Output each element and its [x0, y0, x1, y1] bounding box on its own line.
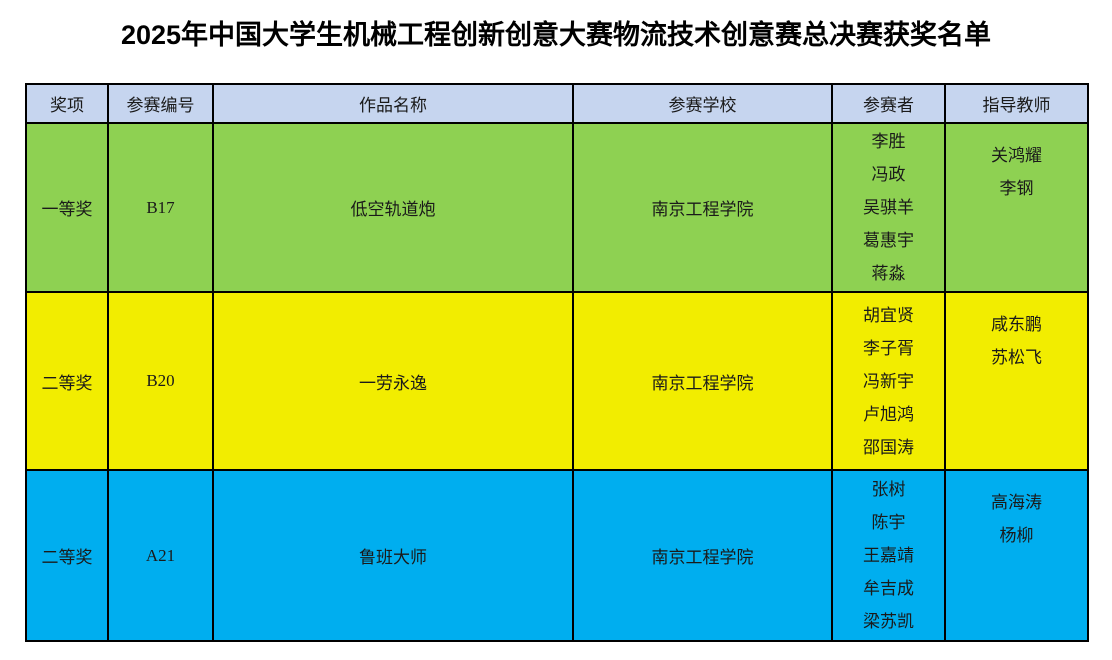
page-title: 2025年中国大学生机械工程创新创意大赛物流技术创意赛总决赛获奖名单	[0, 13, 1112, 52]
member-name: 李子胥	[863, 332, 914, 365]
cell-work: 一劳永逸	[213, 292, 573, 470]
member-list: 张树 陈宇 王嘉靖 牟吉成 梁苏凯	[833, 471, 944, 640]
column-header-teachers: 指导教师	[945, 84, 1088, 123]
table-row: 一等奖 B17 低空轨道炮 南京工程学院 李胜 冯政 吴骐羊 葛惠宇	[26, 123, 1088, 292]
cell-teachers: 高海涛 杨柳	[945, 470, 1088, 641]
table-body: 一等奖 B17 低空轨道炮 南京工程学院 李胜 冯政 吴骐羊 葛惠宇	[26, 123, 1088, 641]
cell-teachers: 咸东鹏 苏松飞	[945, 292, 1088, 470]
cell-code: B17	[108, 123, 213, 292]
member-name: 王嘉靖	[863, 539, 914, 572]
teacher-name: 高海涛	[991, 486, 1042, 519]
school-name: 南京工程学院	[574, 543, 831, 568]
column-header-work: 作品名称	[213, 84, 573, 123]
cell-members: 张树 陈宇 王嘉靖 牟吉成 梁苏凯	[832, 470, 945, 641]
cell-award: 一等奖	[26, 123, 108, 292]
cell-code: A21	[108, 470, 213, 641]
teacher-list: 高海涛 杨柳	[946, 471, 1087, 552]
member-name: 陈宇	[872, 506, 906, 539]
teacher-name: 咸东鹏	[991, 308, 1042, 341]
work-title: 一劳永逸	[214, 369, 572, 394]
member-name: 蒋淼	[872, 257, 906, 290]
member-name: 梁苏凯	[863, 605, 914, 638]
cell-work: 低空轨道炮	[213, 123, 573, 292]
member-name: 牟吉成	[863, 572, 914, 605]
member-name: 张树	[872, 473, 906, 506]
award-list-table: 奖项 参赛编号 作品名称 参赛学校 参赛者 指导教师 一等奖 B17 低空轨道炮	[25, 83, 1089, 642]
table-header: 奖项 参赛编号 作品名称 参赛学校 参赛者 指导教师	[26, 84, 1088, 123]
member-name: 冯政	[872, 158, 906, 191]
cell-school: 南京工程学院	[573, 123, 832, 292]
work-title: 低空轨道炮	[214, 195, 572, 220]
entry-code: B20	[109, 371, 212, 391]
cell-award: 二等奖	[26, 470, 108, 641]
cell-members: 胡宜贤 李子胥 冯新宇 卢旭鸿 邵国涛	[832, 292, 945, 470]
award-label: 二等奖	[27, 543, 107, 568]
school-name: 南京工程学院	[574, 195, 831, 220]
cell-award: 二等奖	[26, 292, 108, 470]
table-row: 二等奖 B20 一劳永逸 南京工程学院 胡宜贤 李子胥 冯新宇 卢旭鸿	[26, 292, 1088, 470]
work-title: 鲁班大师	[214, 543, 572, 568]
member-name: 邵国涛	[863, 431, 914, 464]
table-row: 二等奖 A21 鲁班大师 南京工程学院 张树 陈宇 王嘉靖 牟吉成	[26, 470, 1088, 641]
column-header-code: 参赛编号	[108, 84, 213, 123]
teacher-name: 李钢	[1000, 172, 1034, 205]
member-name: 葛惠宇	[863, 224, 914, 257]
column-header-award: 奖项	[26, 84, 108, 123]
teacher-name: 杨柳	[1000, 519, 1034, 552]
member-name: 卢旭鸿	[863, 398, 914, 431]
cell-school: 南京工程学院	[573, 470, 832, 641]
cell-members: 李胜 冯政 吴骐羊 葛惠宇 蒋淼	[832, 123, 945, 292]
award-label: 一等奖	[27, 195, 107, 220]
teacher-name: 关鸿耀	[991, 139, 1042, 172]
cell-school: 南京工程学院	[573, 292, 832, 470]
entry-code: B17	[109, 198, 212, 218]
school-name: 南京工程学院	[574, 369, 831, 394]
cell-teachers: 关鸿耀 李钢	[945, 123, 1088, 292]
member-name: 李胜	[872, 125, 906, 158]
entry-code: A21	[109, 546, 212, 566]
member-name: 冯新宇	[863, 365, 914, 398]
teacher-name: 苏松飞	[991, 341, 1042, 374]
member-name: 吴骐羊	[863, 191, 914, 224]
page-root: 2025年中国大学生机械工程创新创意大赛物流技术创意赛总决赛获奖名单 奖项 参赛…	[0, 0, 1112, 660]
member-name: 胡宜贤	[863, 299, 914, 332]
cell-work: 鲁班大师	[213, 470, 573, 641]
cell-code: B20	[108, 292, 213, 470]
teacher-list: 咸东鹏 苏松飞	[946, 293, 1087, 374]
column-header-school: 参赛学校	[573, 84, 832, 123]
award-label: 二等奖	[27, 369, 107, 394]
member-list: 李胜 冯政 吴骐羊 葛惠宇 蒋淼	[833, 124, 944, 291]
column-header-members: 参赛者	[832, 84, 945, 123]
table-header-row: 奖项 参赛编号 作品名称 参赛学校 参赛者 指导教师	[26, 84, 1088, 123]
teacher-list: 关鸿耀 李钢	[946, 124, 1087, 205]
member-list: 胡宜贤 李子胥 冯新宇 卢旭鸿 邵国涛	[833, 293, 944, 469]
